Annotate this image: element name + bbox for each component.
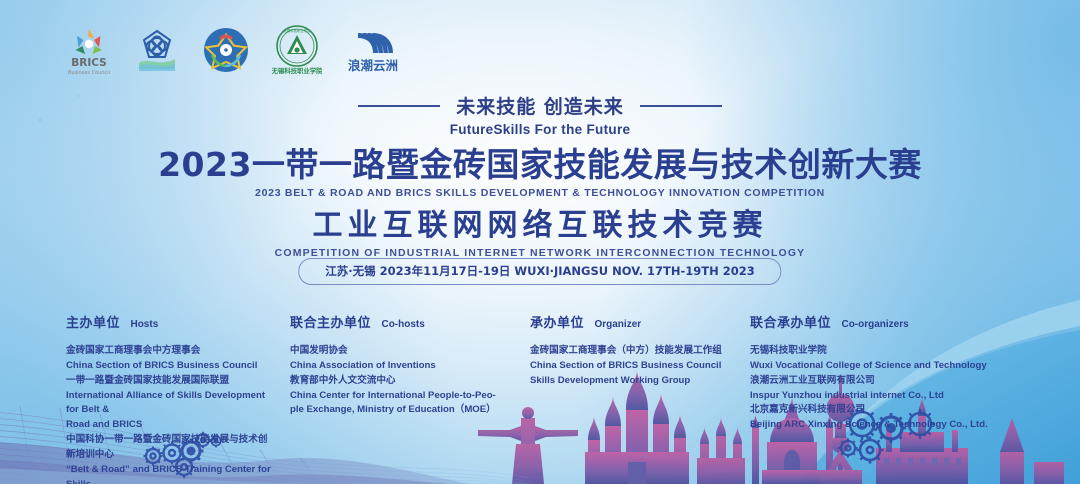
organizer-line: International Alliance of Skills Develop…: [66, 389, 276, 419]
organizer-columns: 主办单位 Hosts 金砖国家工商理事会中方理事会 China Section …: [0, 312, 1080, 484]
brics-business-council-logo: BRICS Business Council: [66, 25, 112, 82]
organizer-heading: 主办单位 Hosts: [66, 312, 276, 332]
organizer-heading-cn: 承办单位: [530, 316, 584, 331]
college-logo-arc-text: 无锡科技职业学院: [283, 28, 311, 33]
organizer-heading-en: Hosts: [130, 319, 158, 330]
organizer-line: Inspur Yunzhou industrial internet Co., …: [750, 389, 1026, 404]
organizer-heading: 联合承办单位 Co-organizers: [750, 312, 1026, 332]
organizer-line: China Center for International People-to…: [290, 389, 516, 404]
organizer-line: Road and BRICS: [66, 418, 276, 433]
organizer-line: Beijing ARC Xinxing Science & Technology…: [750, 418, 1026, 433]
brics-logo-wordmark: BRICS: [71, 57, 106, 69]
slogan-rule-left: [358, 105, 440, 107]
organizer-line: 无锡科技职业学院: [750, 344, 1026, 359]
slogan-rule-right: [640, 105, 722, 107]
organizer-line: Skills Development Working Group: [530, 374, 736, 389]
inspur-wave-mark: [358, 33, 393, 53]
main-title-en: 2023 BELT & ROAD AND BRICS SKILLS DEVELO…: [0, 187, 1080, 199]
organizer-line: China Association of Inventions: [290, 359, 516, 374]
organizer-line: China Section of BRICS Business Council: [530, 359, 736, 374]
organizer-heading-cn: 主办单位: [66, 316, 120, 331]
organizer-line: Wuxi Vocational College of Science and T…: [750, 359, 1026, 374]
slogan-cn-text: 未来技能 创造未来: [456, 92, 624, 119]
organizer-heading-cn: 联合主办单位: [290, 316, 371, 331]
organizer-column-coorganizers: 联合承办单位 Co-organizers 无锡科技职业学院 Wuxi Vocat…: [750, 312, 1040, 484]
brics-star-mark: [76, 29, 103, 54]
organizer-line: 浪潮云洲工业互联网有限公司: [750, 374, 1026, 389]
organizer-line: 中国发明协会: [290, 344, 516, 359]
college-logo-wordmark: 无锡科技职业学院: [272, 66, 322, 75]
organizer-heading: 联合主办单位 Co-hosts: [290, 312, 516, 332]
organizer-line: ple Exchange, Ministry of Education（MOE）: [290, 403, 516, 418]
slogan-line-cn: 未来技能 创造未来: [358, 92, 722, 119]
inspur-yunzhou-logo: 浪潮云洲: [344, 25, 402, 82]
organizer-column-organizer: 承办单位 Organizer 金砖国家工商理事会（中方）技能发展工作组 Chin…: [530, 312, 750, 484]
wuxi-vocational-college-logo: 无锡科技职业学院 无锡科技职业学院: [272, 23, 322, 82]
organizer-heading-en: Organizer: [594, 319, 641, 330]
organizer-heading-en: Co-hosts: [381, 319, 424, 330]
inspur-logo-wordmark: 浪潮云洲: [348, 58, 398, 73]
organizer-heading-en: Co-organizers: [841, 319, 908, 330]
sub-title-en: COMPETITION OF INDUSTRIAL INTERNET NETWO…: [0, 247, 1080, 259]
organizer-heading: 承办单位 Organizer: [530, 312, 736, 332]
organizer-heading-cn: 联合承办单位: [750, 316, 831, 331]
organizer-column-hosts: 主办单位 Hosts 金砖国家工商理事会中方理事会 China Section …: [0, 312, 290, 484]
star-emblem-logo: [202, 25, 250, 82]
sub-title-cn: 工业互联网网络互联技术竞赛: [0, 209, 1080, 242]
organizer-line: 中国科协一带一路暨金砖国家技能发展与技术创新培训中心: [66, 433, 276, 463]
organizer-line: China Section of BRICS Business Council: [66, 359, 276, 374]
date-venue-badge: 江苏·无锡 2023年11月17日-19日 WUXI·JIANGSU NOV. …: [298, 258, 781, 285]
slogan-en-text: FutureSkills For the Future: [450, 122, 631, 137]
main-title-cn: 2023一带一路暨金砖国家技能发展与技术创新大赛: [0, 148, 1080, 183]
title-block: 2023一带一路暨金砖国家技能发展与技术创新大赛 2023 BELT & ROA…: [0, 148, 1080, 259]
slogan-block: 未来技能 创造未来 FutureSkills For the Future: [0, 92, 1080, 137]
brics-logo-subtext: Business Council: [68, 70, 110, 76]
organizer-line: 金砖国家工商理事会（中方）技能发展工作组: [530, 344, 736, 359]
organizer-line: 一带一路暨金砖国家技能发展国际联盟: [66, 374, 276, 389]
organizer-line: 教育部中外人文交流中心: [290, 374, 516, 389]
organizer-column-cohosts: 联合主办单位 Co-hosts 中国发明协会 China Association…: [290, 312, 530, 484]
alliance-emblem-logo: [134, 25, 180, 82]
organizer-line: “Belt & Road” and BRICS Training Center …: [66, 463, 276, 484]
organizer-line: 北京嘉克新兴科技有限公司: [750, 403, 1026, 418]
organizer-line: 金砖国家工商理事会中方理事会: [66, 344, 276, 359]
partner-logo-row: BRICS Business Council: [66, 26, 402, 82]
event-banner: BRICS Business Council: [0, 0, 1080, 484]
